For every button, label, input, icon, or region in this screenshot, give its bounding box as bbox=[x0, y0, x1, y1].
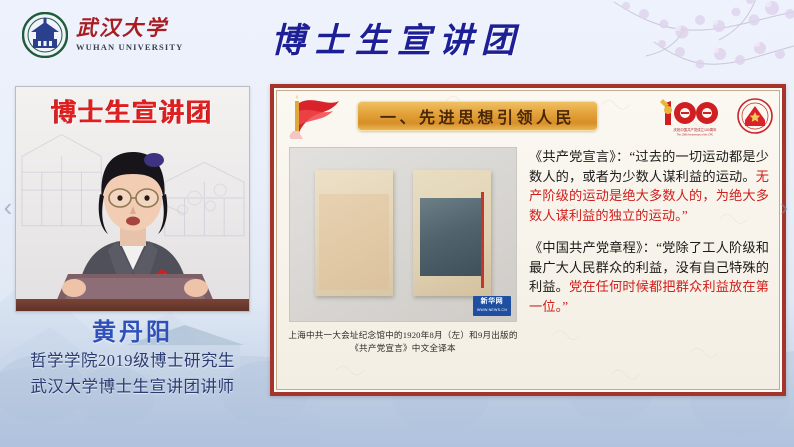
chevron-right-icon[interactable]: › bbox=[776, 190, 792, 224]
video-overlay-title: 博士生宣讲团 bbox=[16, 93, 249, 129]
slide-content: 新华网 WWW.NEWS.CN 上海中共一大会址纪念馆中的1920年8月（左）和… bbox=[277, 139, 779, 389]
book-red-spine-strip bbox=[481, 192, 484, 288]
video-desk bbox=[16, 299, 249, 311]
speaker-video[interactable]: 博士生宣讲团 bbox=[15, 86, 250, 312]
quote-item: 《共产党宣言》：“过去的一切运动都是少数人的，或者为少数人谋利益的运动。无产阶级… bbox=[529, 147, 769, 225]
quote-plain-text: 《共产党宣言》：“过去的一切运动都是少数人的，或者为少数人谋利益的运动。 bbox=[529, 149, 769, 184]
chevron-left-icon[interactable]: ‹ bbox=[0, 190, 16, 224]
page-title: 博士生宣讲团 bbox=[0, 13, 794, 62]
historical-books-photo: 新华网 WWW.NEWS.CN bbox=[289, 147, 517, 322]
organization-emblem-icon bbox=[737, 98, 773, 134]
book-left-inner-panel bbox=[319, 194, 389, 290]
svg-text:庆祝中国共产党成立100周年: 庆祝中国共产党成立100周年 bbox=[674, 127, 718, 132]
slide-section-banner: 一、先进思想引领人民 bbox=[357, 101, 598, 131]
quote-list: 《共产党宣言》：“过去的一切运动都是少数人的，或者为少数人谋利益的运动。无产阶级… bbox=[529, 147, 769, 329]
speaker-info: 黄丹阳 哲学学院2019级博士研究生 武汉大学博士生宣讲团讲师 bbox=[0, 318, 265, 400]
presentation-stage: 武汉大学 WUHAN UNIVERSITY 博士生宣讲团 博士生宣讲团 bbox=[0, 0, 794, 447]
xinhua-watermark-subtext: WWW.NEWS.CN bbox=[477, 306, 507, 314]
speaker-figure bbox=[16, 136, 250, 311]
slide-section-heading: 一、先进思想引领人民 bbox=[380, 104, 575, 128]
quote-item: 《中国共产党章程》：“党除了工人阶级和最广大人民群众的利益，没有自己特殊的利益。… bbox=[529, 238, 769, 316]
photo-caption: 上海中共一大会址纪念馆中的1920年8月（左）和9月出版的《共产党宣言》中文全译… bbox=[283, 329, 523, 354]
speaker-affiliation-line-1: 哲学学院2019级博士研究生 bbox=[0, 348, 265, 374]
cpc-centenary-emblem-icon: 庆祝中国共产党成立100周年 The 100th Anniversary of … bbox=[657, 97, 733, 137]
svg-text:The 100th Anniversary of the C: The 100th Anniversary of the CPC bbox=[677, 133, 714, 136]
slide-header: 一、先进思想引领人民 庆祝中国共产党 bbox=[277, 91, 779, 139]
slide-inner-frame: 一、先进思想引领人民 庆祝中国共产党 bbox=[276, 90, 780, 390]
speaker-affiliation-line-2: 武汉大学博士生宣讲团讲师 bbox=[0, 374, 265, 400]
book-cover-august-1920 bbox=[315, 170, 393, 296]
presentation-slide[interactable]: 一、先进思想引领人民 庆祝中国共产党 bbox=[270, 84, 786, 396]
xinhua-watermark: 新华网 WWW.NEWS.CN bbox=[473, 296, 511, 316]
book-cover-september-1920 bbox=[413, 170, 491, 296]
xinhua-watermark-text: 新华网 bbox=[481, 298, 504, 305]
speaker-name: 黄丹阳 bbox=[0, 318, 265, 348]
page-header: 武汉大学 WUHAN UNIVERSITY 博士生宣讲团 bbox=[0, 0, 794, 68]
red-flag-icon bbox=[279, 93, 341, 139]
marx-portrait-illustration bbox=[420, 198, 484, 276]
